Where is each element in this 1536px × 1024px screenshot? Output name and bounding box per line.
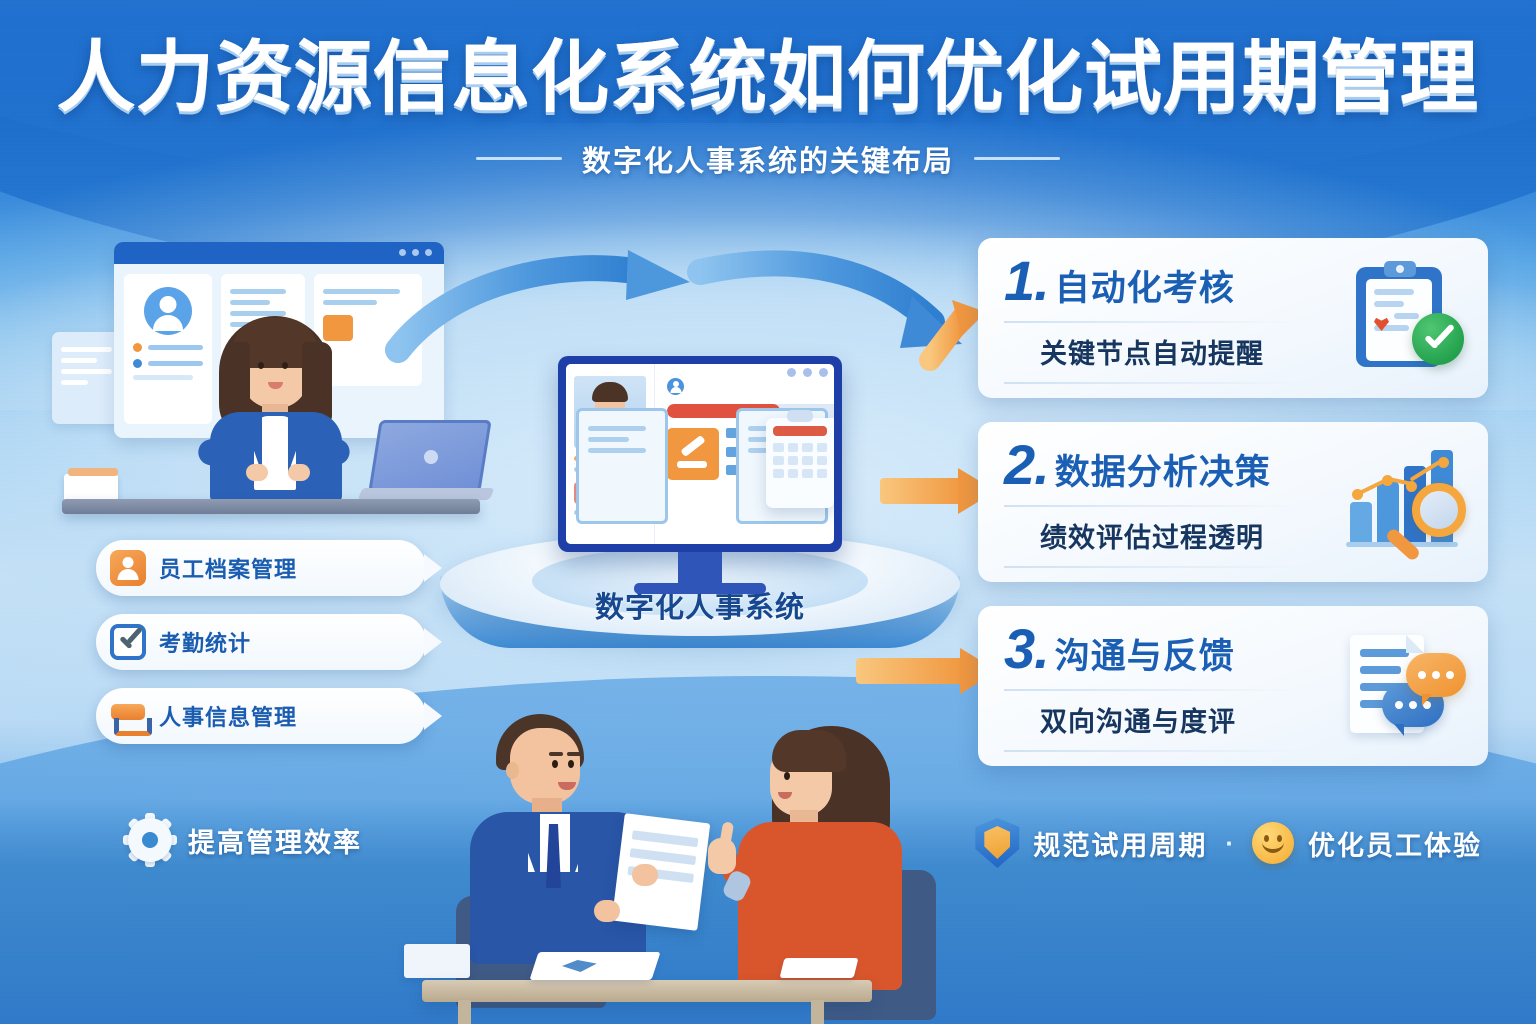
shield-icon	[975, 818, 1019, 868]
card-divider	[1004, 321, 1306, 323]
system-monitor	[558, 356, 842, 552]
pill-label: 考勤统计	[159, 626, 251, 658]
page-subtitle: 数字化人事系统的关键布局	[582, 138, 954, 180]
infographic-canvas: 人力资源信息化系统如何优化试用期管理 数字化人事系统的关键布局	[0, 0, 1536, 1024]
card-heading: 3. 沟通与反馈	[1004, 621, 1332, 679]
interviewer-figure	[466, 714, 656, 964]
card-description: 双向沟通与度评	[1004, 700, 1332, 739]
pill-employee-records[interactable]: 员工档案管理	[96, 540, 426, 596]
card-content: 1. 自动化考核 关键节点自动提醒	[1004, 253, 1332, 384]
card-title: 沟通与反馈	[1055, 628, 1235, 679]
document-on-table	[529, 952, 660, 980]
footer-label-left: 提高管理效率	[188, 821, 362, 860]
pill-label: 员工档案管理	[159, 552, 297, 584]
desk-surface	[62, 499, 480, 514]
secondary-screen-left	[576, 408, 668, 524]
feature-pill-list: 员工档案管理 考勤统计 人事信息管理	[96, 540, 426, 762]
subtitle-rule-left	[476, 157, 562, 160]
chat-bubble-orange-icon	[1406, 653, 1466, 697]
card-heading: 1. 自动化考核	[1004, 253, 1332, 311]
pill-hr-information[interactable]: 人事信息管理	[96, 688, 426, 744]
card-divider-bottom	[1004, 566, 1306, 568]
card-description: 关键节点自动提醒	[1004, 332, 1332, 371]
illustration-system-platform: 数字化人事系统	[440, 330, 980, 660]
card-number: 3.	[1004, 621, 1049, 677]
evaluation-document	[612, 813, 711, 931]
hr-staff-figure	[202, 312, 352, 500]
card-title: 自动化考核	[1055, 260, 1235, 311]
card-content: 2. 数据分析决策 绩效评估过程透明	[1004, 437, 1332, 568]
avatar-icon	[144, 287, 192, 335]
card-number: 2.	[1004, 437, 1049, 493]
card-content: 3. 沟通与反馈 双向沟通与度评	[1004, 621, 1332, 752]
smiley-icon	[1252, 822, 1294, 864]
benefit-card-2[interactable]: 2. 数据分析决策 绩效评估过程透明	[978, 422, 1488, 582]
clipboard-check-icon	[1340, 259, 1466, 377]
card-heading: 2. 数据分析决策	[1004, 437, 1332, 495]
check-badge-icon	[1412, 313, 1464, 365]
person-badge-icon	[110, 550, 146, 586]
header: 人力资源信息化系统如何优化试用期管理 数字化人事系统的关键布局	[0, 0, 1536, 200]
checkbox-icon	[110, 624, 146, 660]
employee-figure	[722, 722, 908, 990]
dashboard-titlebar	[114, 242, 444, 264]
card-divider-bottom	[1004, 750, 1306, 752]
benefit-card-list: 1. 自动化考核 关键节点自动提醒 2.	[978, 238, 1488, 790]
monitor-window-dots-icon	[787, 368, 828, 377]
footer-benefits-group: 规范试用周期 · 优化员工体验	[975, 818, 1482, 868]
calendar-clipboard-icon	[766, 418, 834, 508]
footer-efficiency-item: 提高管理效率	[128, 818, 362, 862]
briefcase-icon	[110, 698, 146, 734]
card-number: 1.	[1004, 253, 1049, 309]
monitor-stand	[678, 552, 722, 586]
footer-separator: ·	[1221, 828, 1238, 859]
pill-label: 人事信息管理	[159, 700, 297, 732]
desk-box	[404, 944, 470, 978]
page-title: 人力资源信息化系统如何优化试用期管理	[0, 38, 1536, 118]
card-title: 数据分析决策	[1055, 444, 1271, 495]
papers-on-table	[780, 958, 859, 978]
card-divider	[1004, 505, 1306, 507]
document-chat-icon	[1340, 627, 1466, 745]
card-divider	[1004, 689, 1306, 691]
subtitle-rule-right	[974, 157, 1060, 160]
user-icon	[667, 378, 684, 395]
interview-table	[422, 980, 872, 1002]
subtitle-row: 数字化人事系统的关键布局	[0, 138, 1536, 180]
card-divider-bottom	[1004, 382, 1306, 384]
illustration-hr-workstation	[52, 236, 492, 526]
footer-label-right-1: 规范试用周期	[1033, 824, 1207, 863]
illustration-interview-scene	[404, 684, 964, 1024]
window-dots-icon	[399, 249, 432, 256]
benefit-card-3[interactable]: 3. 沟通与反馈 双向沟通与度评	[978, 606, 1488, 766]
footer-label-right-2: 优化员工体验	[1308, 824, 1482, 863]
approval-icon	[667, 428, 719, 480]
card-description: 绩效评估过程透明	[1004, 516, 1332, 555]
monitor-base	[634, 583, 766, 594]
bar-chart-magnifier-icon	[1340, 443, 1466, 561]
benefit-card-1[interactable]: 1. 自动化考核 关键节点自动提醒	[978, 238, 1488, 398]
gear-icon	[128, 818, 172, 862]
pill-attendance[interactable]: 考勤统计	[96, 614, 426, 670]
dashboard-profile-card	[124, 274, 212, 424]
